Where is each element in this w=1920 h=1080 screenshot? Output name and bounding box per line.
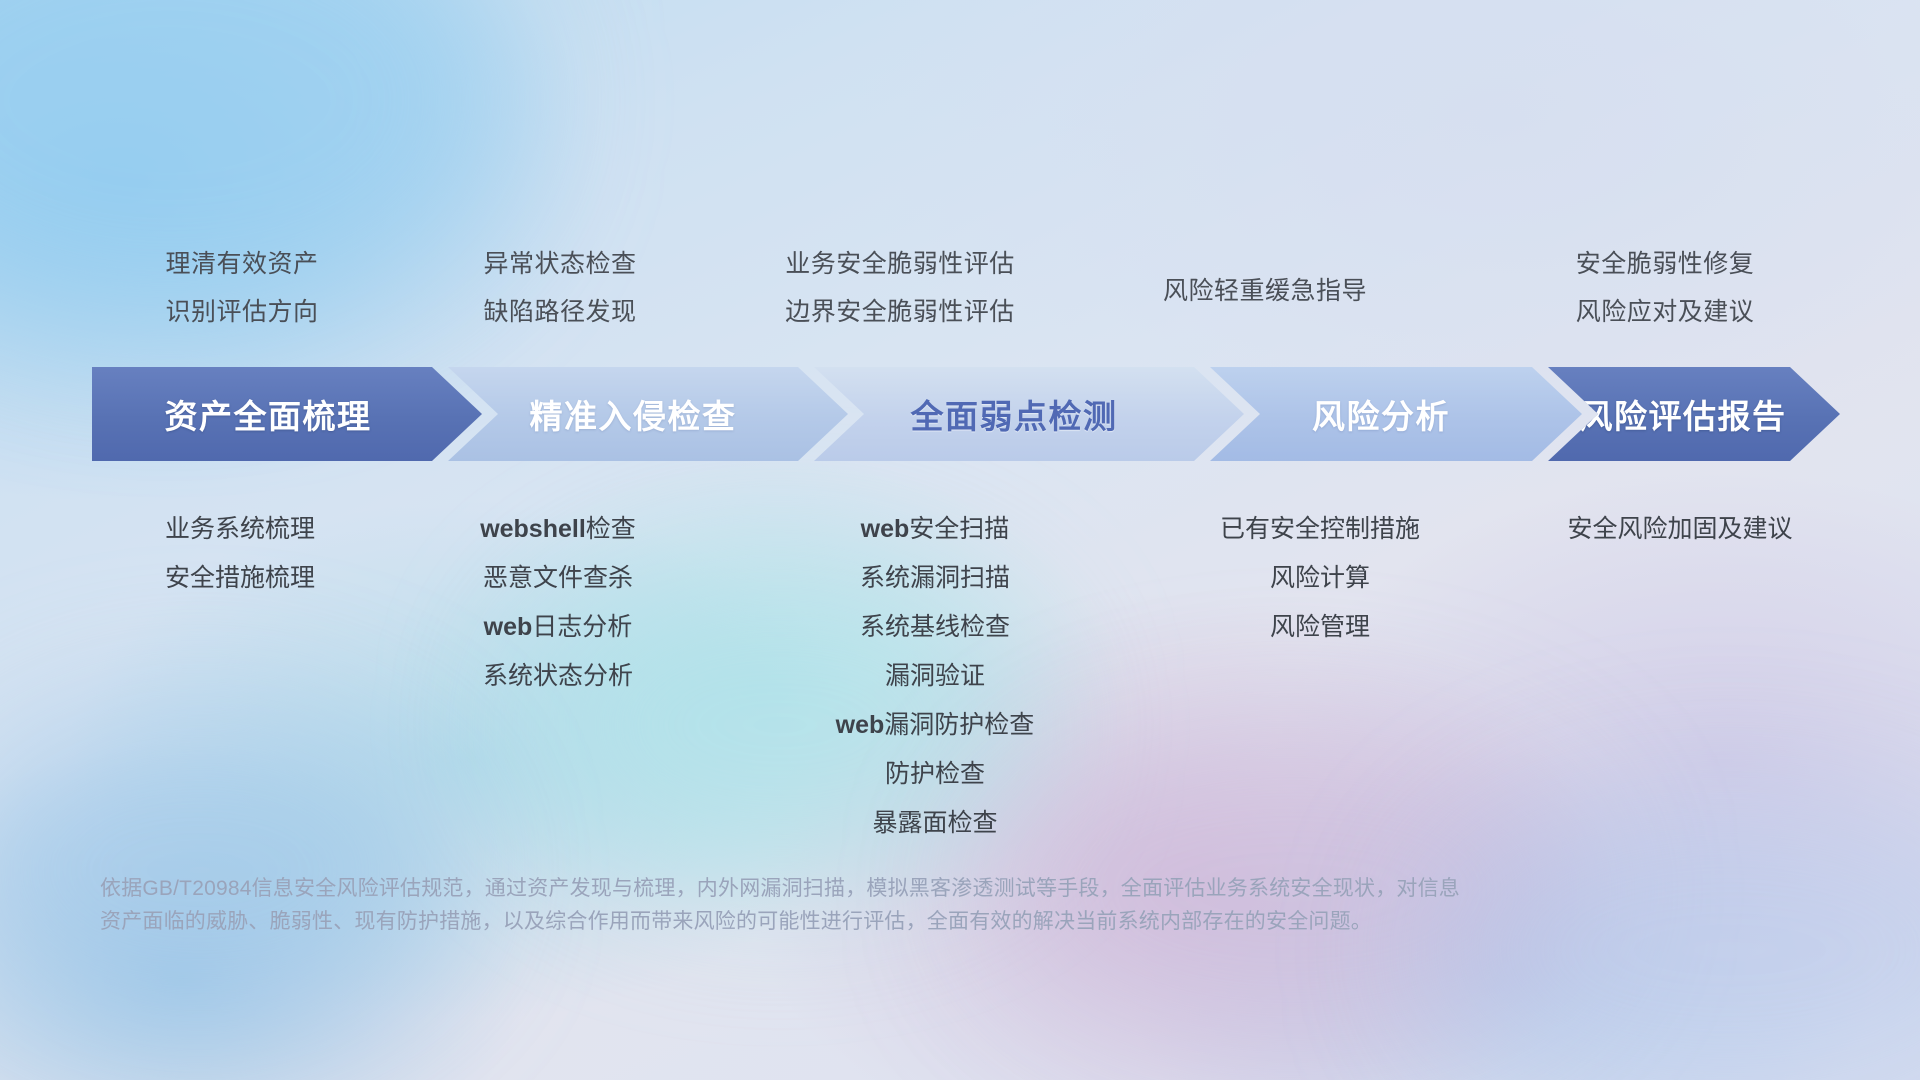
list-item: 系统基线检查 (740, 603, 1130, 652)
item-prefix: web (861, 515, 910, 543)
list-item: 风险计算 (1120, 554, 1520, 603)
item-text: 漏洞验证 (885, 662, 985, 690)
item-prefix: web (836, 711, 885, 739)
item-text: 安全措施梳理 (165, 564, 315, 592)
stage-chevron-1[interactable]: 资产全面梳理 (92, 367, 482, 461)
item-text: 系统基线检查 (860, 613, 1010, 641)
item-prefix: webshell (480, 515, 586, 543)
bottom-col-5: 安全风险加固及建议 (1480, 505, 1880, 554)
stage-chevron-3-label: 全面弱点检测 (911, 390, 1118, 438)
item-text: 系统漏洞扫描 (860, 564, 1010, 592)
footer-line-1: 依据GB/T20984信息安全风险评估规范，通过资产发现与梳理，内外网漏洞扫描，… (100, 872, 1660, 905)
list-item: 恶意文件查杀 (378, 554, 738, 603)
bottom-col-3: web安全扫描 系统漏洞扫描 系统基线检查 漏洞验证 web漏洞防护检查 防护检… (740, 505, 1130, 848)
list-item: web日志分析 (378, 603, 738, 652)
infographic-canvas: 理清有效资产 识别评估方向 异常状态检查 缺陷路径发现 业务安全脆弱性评估 边界… (0, 0, 1920, 1080)
stage-chevron-4[interactable]: 风险分析 (1210, 367, 1582, 461)
bottom-col-2: webshell检查 恶意文件查杀 web日志分析 系统状态分析 (378, 505, 738, 701)
list-item: 安全风险加固及建议 (1480, 505, 1880, 554)
list-item: 防护检查 (740, 750, 1130, 799)
item-text: 检查 (586, 515, 636, 543)
top-col-5-line-2: 风险应对及建议 (1475, 288, 1855, 336)
top-col-3: 业务安全脆弱性评估 边界安全脆弱性评估 (700, 240, 1100, 336)
item-text: 漏洞防护检查 (884, 711, 1034, 739)
item-text: 暴露面检查 (872, 809, 997, 837)
item-prefix: web (484, 613, 533, 641)
top-col-2: 异常状态检查 缺陷路径发现 (390, 240, 730, 336)
list-item: web漏洞防护检查 (740, 701, 1130, 750)
top-col-1: 理清有效资产 识别评估方向 (52, 240, 432, 336)
item-text: 风险管理 (1270, 613, 1370, 641)
item-text: 恶意文件查杀 (483, 564, 633, 592)
stage-chevron-4-label: 风险分析 (1312, 390, 1450, 438)
footer-description: 依据GB/T20984信息安全风险评估规范，通过资产发现与梳理，内外网漏洞扫描，… (100, 872, 1660, 938)
top-col-5-line-1: 安全脆弱性修复 (1475, 240, 1855, 288)
item-text: 业务系统梳理 (165, 515, 315, 543)
list-item: 系统状态分析 (378, 652, 738, 701)
item-text: 防护检查 (885, 760, 985, 788)
top-col-2-line-2: 缺陷路径发现 (390, 288, 730, 336)
list-item: 风险管理 (1120, 603, 1520, 652)
list-item: web安全扫描 (740, 505, 1130, 554)
top-col-1-line-1: 理清有效资产 (52, 240, 432, 288)
footer-line-2: 资产面临的威胁、脆弱性、现有防护措施，以及综合作用而带来风险的可能性进行评估，全… (100, 905, 1660, 938)
stage-chevron-5[interactable]: 风险评估报告 (1548, 367, 1840, 461)
bottom-col-4: 已有安全控制措施 风险计算 风险管理 (1120, 505, 1520, 652)
top-col-4-line-1: 风险轻重缓急指导 (1075, 267, 1455, 315)
item-text: 安全风险加固及建议 (1567, 515, 1792, 543)
bottom-item-row: 业务系统梳理 安全措施梳理 webshell检查 恶意文件查杀 web日志分析 … (0, 500, 1920, 840)
top-col-1-line-2: 识别评估方向 (52, 288, 432, 336)
top-col-3-line-1: 业务安全脆弱性评估 (700, 240, 1100, 288)
list-item: 已有安全控制措施 (1120, 505, 1520, 554)
top-descriptor-row: 理清有效资产 识别评估方向 异常状态检查 缺陷路径发现 业务安全脆弱性评估 边界… (0, 214, 1920, 334)
top-col-5: 安全脆弱性修复 风险应对及建议 (1475, 240, 1855, 336)
stage-chevron-3[interactable]: 全面弱点检测 (814, 367, 1244, 461)
top-col-3-line-2: 边界安全脆弱性评估 (700, 288, 1100, 336)
list-item: webshell检查 (378, 505, 738, 554)
stage-chevron-5-label: 风险评估报告 (1580, 390, 1787, 438)
list-item: 系统漏洞扫描 (740, 554, 1130, 603)
stage-chevron-2[interactable]: 精准入侵检查 (448, 367, 848, 461)
item-text: 已有安全控制措施 (1220, 515, 1420, 543)
stage-chevron-2-label: 精准入侵检查 (530, 390, 737, 438)
stage-chevron-1-label: 资产全面梳理 (165, 390, 372, 438)
top-col-2-line-1: 异常状态检查 (390, 240, 730, 288)
item-text: 安全扫描 (909, 515, 1009, 543)
item-text: 风险计算 (1270, 564, 1370, 592)
top-col-4: 风险轻重缓急指导 (1075, 267, 1455, 315)
list-item: 暴露面检查 (740, 799, 1130, 848)
process-chevron-banner: 资产全面梳理 精准入侵检查 全面弱点检测 风险分析 风险评估报告 (92, 367, 1840, 461)
item-text: 系统状态分析 (483, 662, 633, 690)
item-text: 日志分析 (532, 613, 632, 641)
list-item: 漏洞验证 (740, 652, 1130, 701)
